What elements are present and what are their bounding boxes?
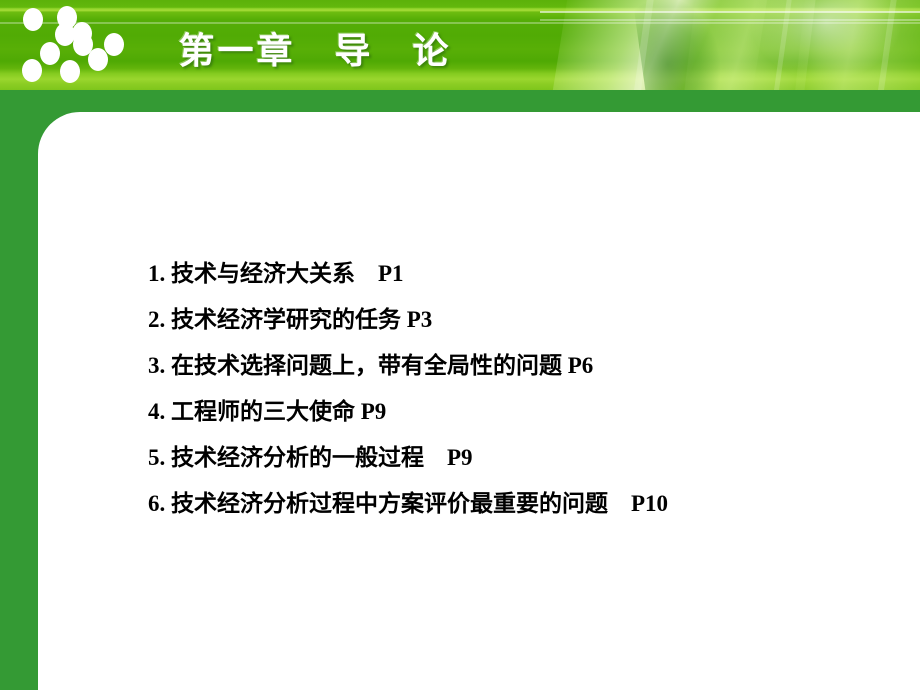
list-item: 5. 技术经济分析的一般过程 P9 (148, 435, 908, 481)
content-panel: 1. 技术与经济大关系 P1 2. 技术经济学研究的任务 P3 3. 在技术选择… (38, 112, 920, 690)
header-banner: 第一章 导 论 (0, 0, 920, 90)
agenda-list: 1. 技术与经济大关系 P1 2. 技术经济学研究的任务 P3 3. 在技术选择… (148, 251, 908, 527)
header-solid-band (0, 90, 920, 112)
list-item: 4. 工程师的三大使命 P9 (148, 389, 908, 435)
banner-highlight-line-1 (540, 11, 920, 13)
list-item: 6. 技术经济分析过程中方案评价最重要的问题 P10 (148, 481, 908, 527)
slide-canvas: 第一章 导 论 1. 技术与经济大关系 P1 2. 技术经济学研究的任务 P3 … (0, 0, 920, 690)
banner-highlight-line-2 (540, 19, 920, 21)
left-green-stripe (0, 90, 38, 690)
list-item: 2. 技术经济学研究的任务 P3 (148, 297, 908, 343)
list-item: 1. 技术与经济大关系 P1 (148, 251, 908, 297)
page-title: 第一章 导 论 (0, 22, 920, 74)
list-item: 3. 在技术选择问题上，带有全局性的问题 P6 (148, 343, 908, 389)
